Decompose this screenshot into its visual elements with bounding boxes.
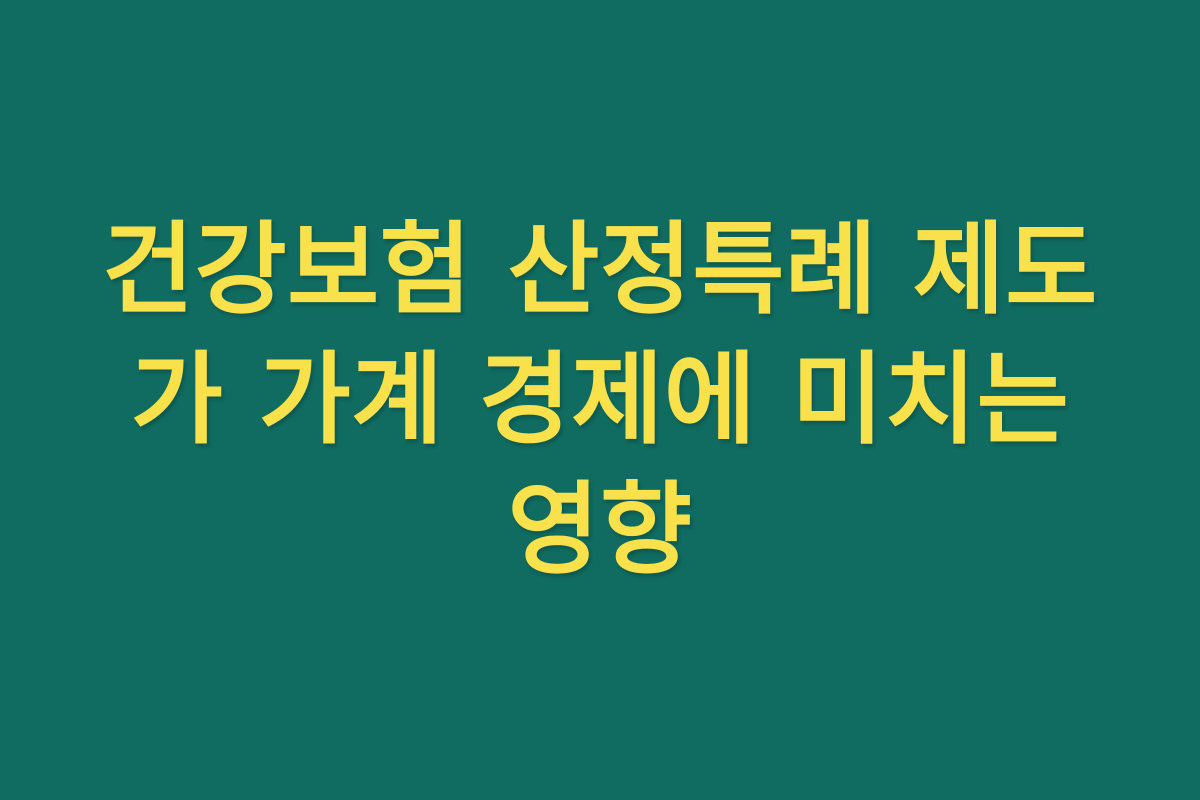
title-banner: 건강보험 산정특례 제도 가 가계 경제에 미치는 영향 [0, 0, 1200, 800]
title-line-1: 건강보험 산정특례 제도 [70, 205, 1130, 335]
title-line-3: 영향 [70, 465, 1130, 595]
page-title: 건강보험 산정특례 제도 가 가계 경제에 미치는 영향 [70, 205, 1130, 595]
title-line-2: 가 가계 경제에 미치는 [70, 335, 1130, 465]
